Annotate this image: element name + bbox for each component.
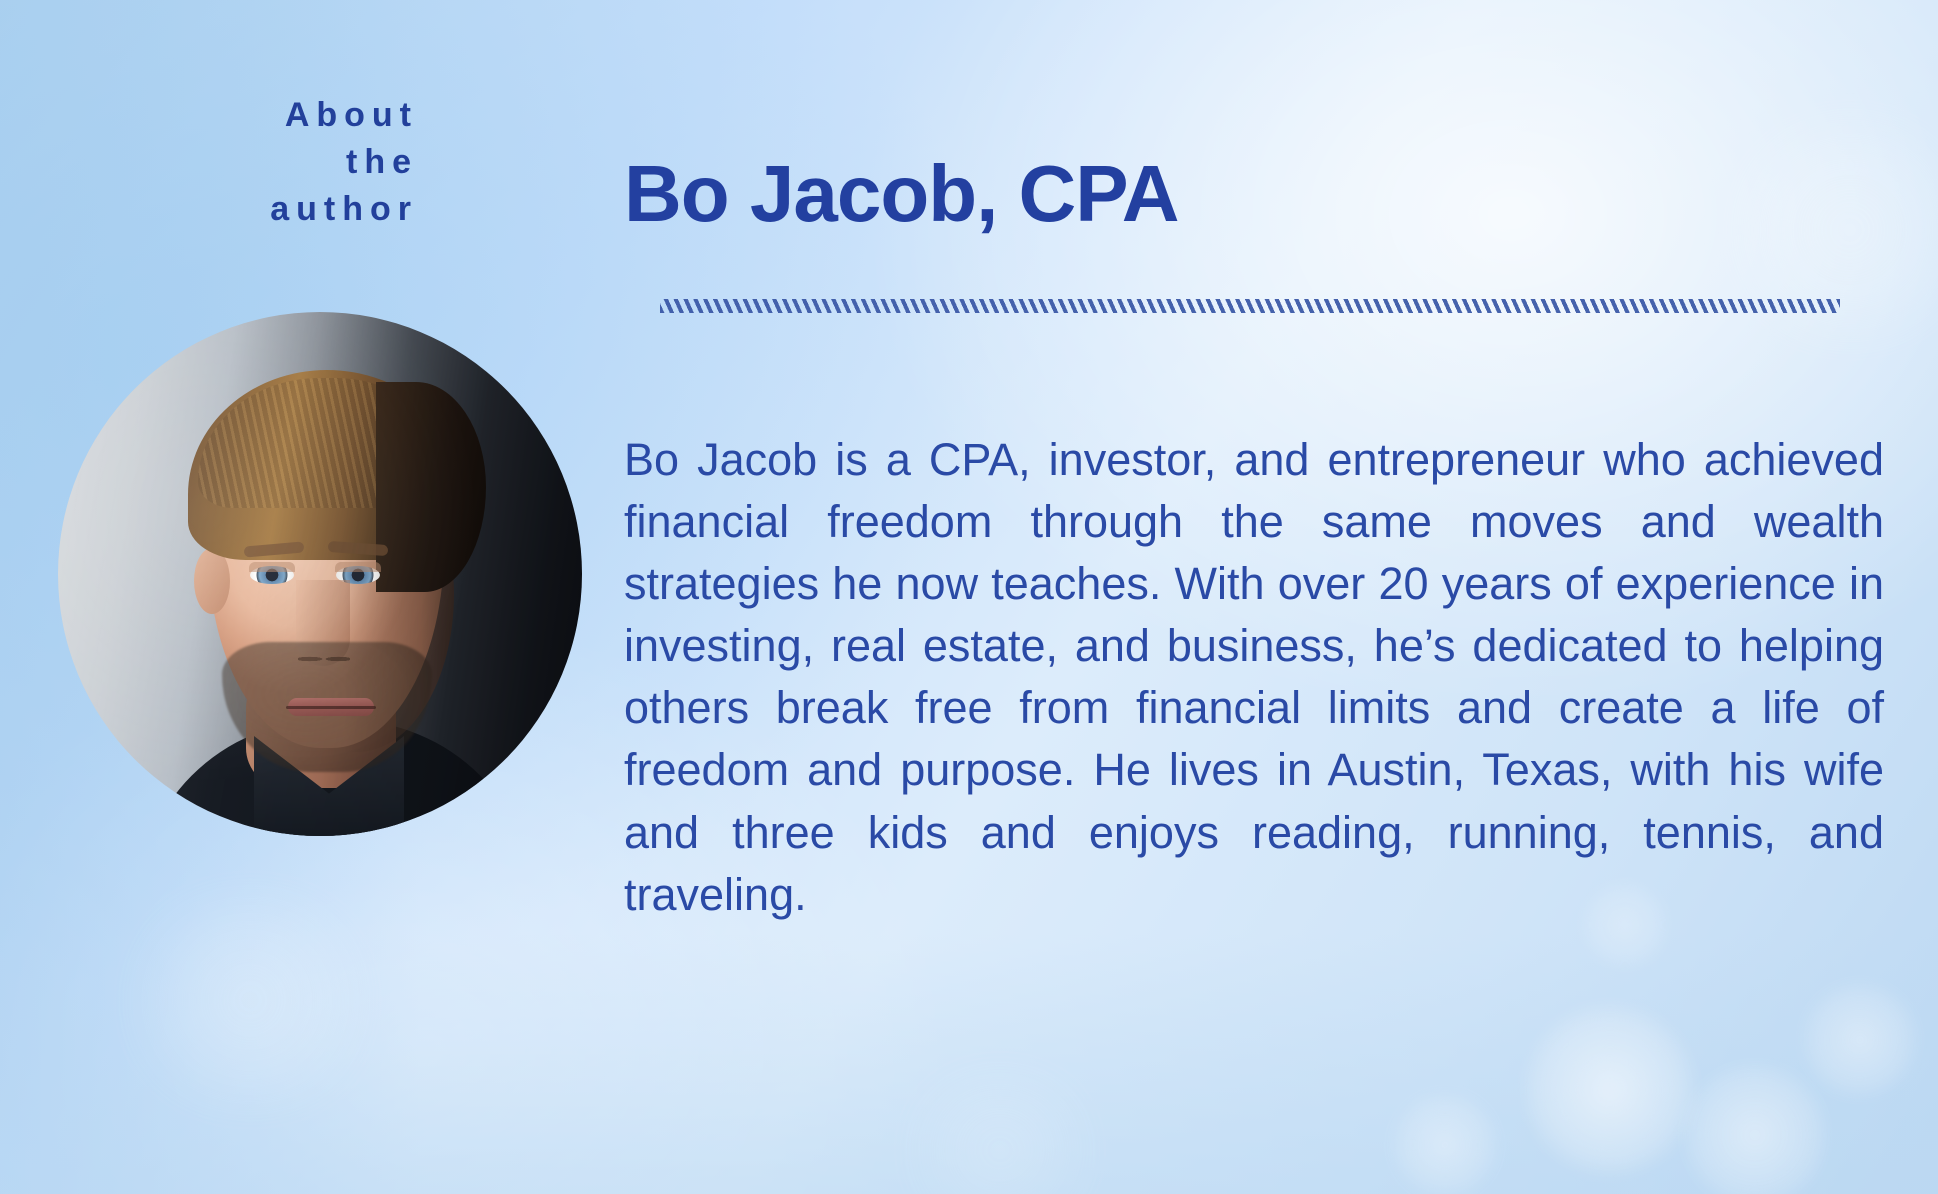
about-label-line-2: the [40,139,418,186]
about-label-line-3: author [40,186,418,233]
dashed-divider [660,299,1840,313]
author-bio-paragraph: Bo Jacob is a CPA, investor, and entrepr… [624,429,1884,926]
page-title: Bo Jacob, CPA [624,154,1179,234]
about-the-author-label: About the author [40,92,418,233]
author-portrait-avatar [58,312,582,836]
background-haze-bottom [0,934,1938,1194]
about-label-line-1: About [40,92,418,139]
portrait-vignette [58,312,582,836]
about-the-author-slide: About the author Bo Jacob, CPA Bo Jacob … [0,0,1938,1194]
